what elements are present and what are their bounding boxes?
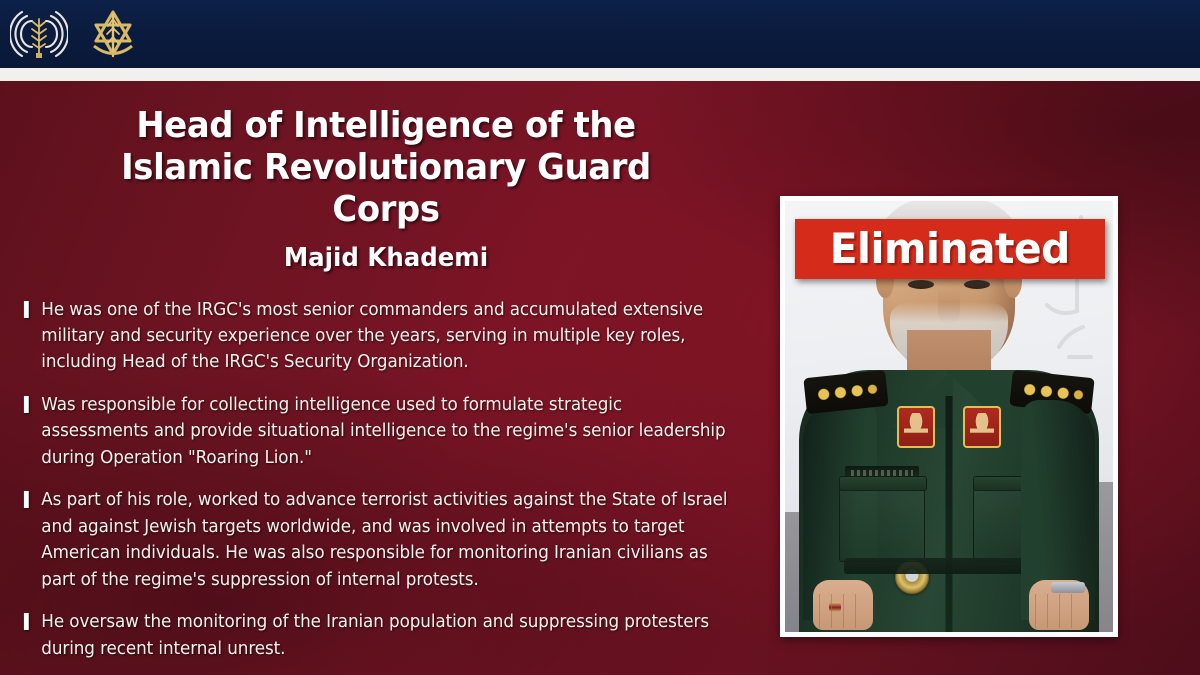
list-item-text: As part of his role, worked to advance t… (41, 490, 727, 589)
idf-emblem-logo (82, 6, 144, 62)
epaulette-right (1009, 370, 1094, 414)
logo-group (10, 6, 144, 62)
pocket-flap-left (839, 476, 927, 491)
list-item-text: He oversaw the monitoring of the Iranian… (41, 612, 709, 658)
uniform-belt (844, 558, 1054, 574)
uniform-blue-badge (1023, 522, 1051, 556)
rank-patch-right (963, 406, 1001, 448)
idf-spokesperson-broadcast-logo (10, 7, 68, 61)
rank-patch-left (897, 406, 935, 448)
hand-left (813, 580, 873, 630)
bullet-list: He was one of the IRGC's most senior com… (16, 297, 756, 662)
epaulette-insignia-left (810, 374, 883, 409)
status-badge: Eliminated (795, 219, 1105, 279)
bullet-marker-icon (24, 301, 29, 318)
list-item: As part of his role, worked to advance t… (22, 487, 730, 593)
page-title: Head of Intelligence of the Islamic Revo… (38, 105, 734, 231)
pocket-flap-right (973, 476, 1061, 491)
list-item-text: He was one of the IRGC's most senior com… (41, 300, 703, 373)
wristwatch (1051, 582, 1085, 593)
bullet-marker-icon (24, 491, 29, 508)
list-item: He was one of the IRGC's most senior com… (22, 297, 730, 376)
eye-right (964, 280, 990, 289)
epaulette-left (803, 370, 888, 414)
uniform-placket (946, 396, 953, 632)
bullet-marker-icon (24, 613, 29, 630)
list-item: He oversaw the monitoring of the Iranian… (22, 609, 730, 662)
list-item-text: Was responsible for collecting intellige… (41, 395, 725, 468)
header-bar (0, 0, 1200, 68)
subject-name: Majid Khademi (38, 243, 734, 274)
status-badge-label: Eliminated (830, 228, 1070, 270)
rank-glyph-right (970, 413, 994, 441)
header-divider (0, 68, 1200, 81)
bullet-marker-icon (24, 396, 29, 413)
rank-glyph-left (904, 413, 928, 441)
chest-pocket-right (973, 488, 1059, 562)
broadcast-graphic-slide: Head of Intelligence of the Islamic Revo… (0, 0, 1200, 675)
list-item: Was responsible for collecting intellige… (22, 392, 730, 471)
content-panel: Head of Intelligence of the Islamic Revo… (0, 81, 1200, 675)
epaulette-insignia-right (1016, 374, 1089, 409)
hand-right (1029, 580, 1089, 630)
eye-left (908, 280, 934, 289)
text-column: Head of Intelligence of the Islamic Revo… (0, 81, 770, 675)
ring (829, 602, 841, 612)
chest-pocket-left (839, 488, 925, 562)
